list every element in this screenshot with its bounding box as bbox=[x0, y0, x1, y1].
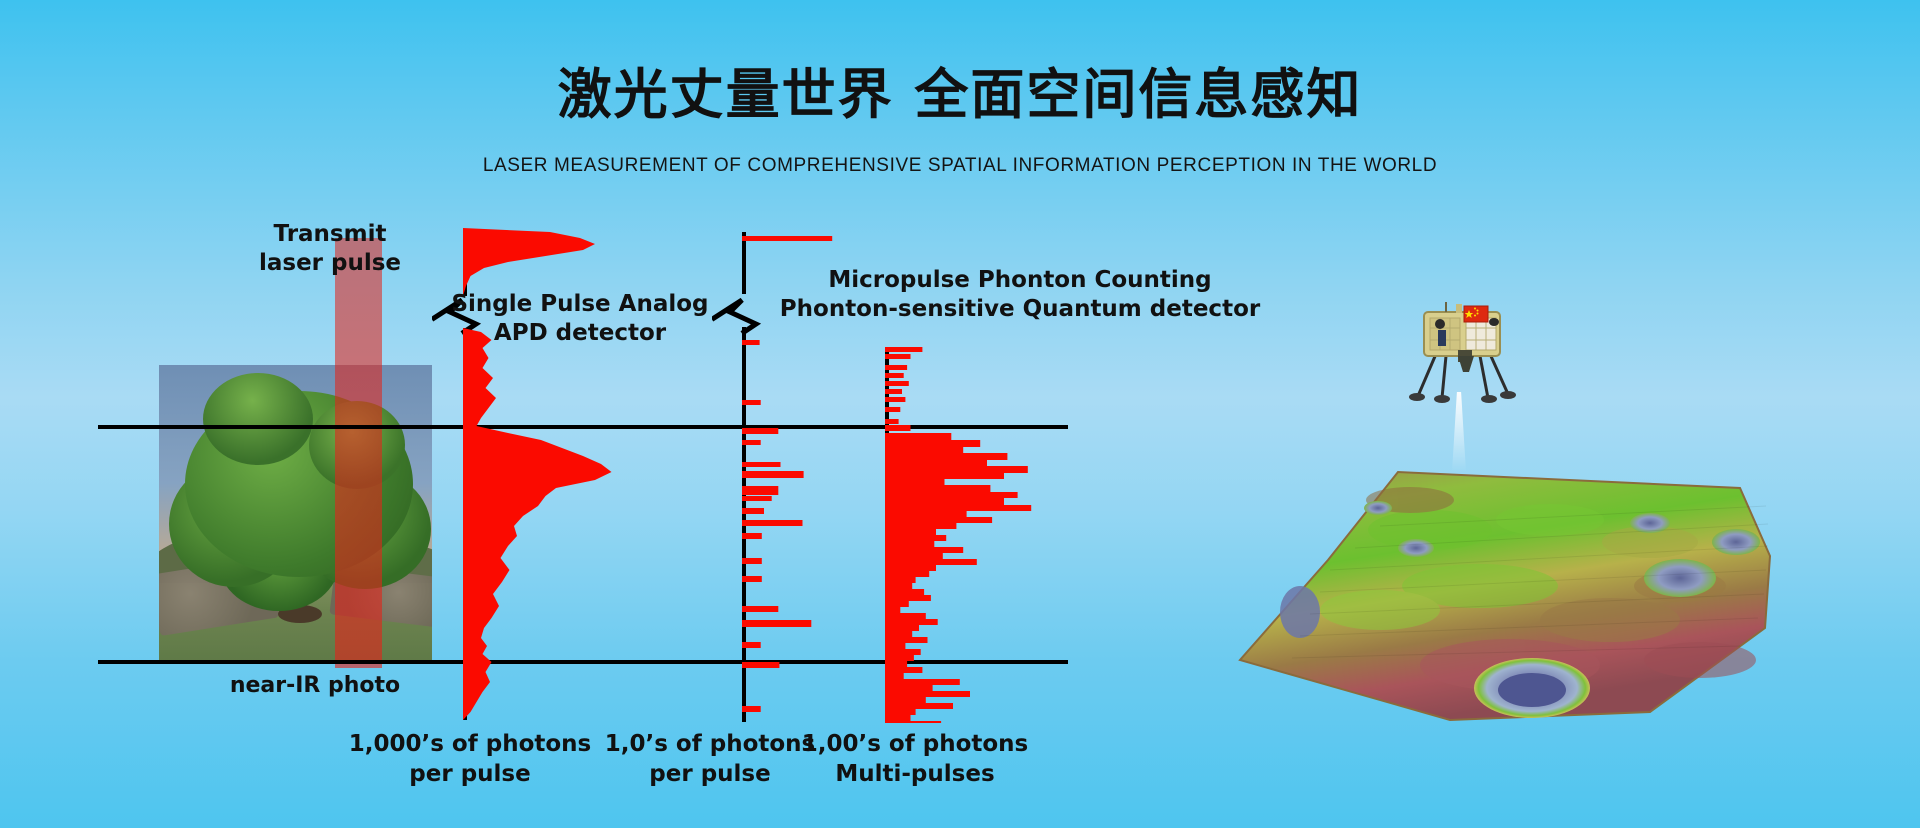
photon-bar bbox=[885, 492, 1018, 498]
photon-bar bbox=[885, 607, 900, 613]
photon-bar bbox=[885, 589, 924, 595]
page-subtitle: LASER MEASUREMENT OF COMPREHENSIVE SPATI… bbox=[0, 155, 1920, 177]
photo-canopy-upper-left bbox=[203, 373, 313, 465]
photon-bar bbox=[742, 496, 772, 501]
photon-bar bbox=[885, 691, 970, 697]
photon-bar bbox=[742, 662, 779, 668]
photon-bar bbox=[885, 709, 916, 715]
photon-bar bbox=[885, 425, 911, 431]
photon-bar bbox=[885, 625, 919, 631]
photon-bar bbox=[742, 486, 778, 495]
photon-bar bbox=[885, 440, 980, 447]
transmit-pulse-label: Transmit laser pulse bbox=[220, 220, 440, 279]
photon-bar bbox=[885, 365, 907, 370]
photon-bar bbox=[885, 547, 963, 553]
photon-bar bbox=[885, 511, 967, 517]
photon-bar bbox=[742, 642, 761, 648]
photon-bar bbox=[885, 595, 931, 601]
photon-bar bbox=[885, 721, 941, 723]
photon-bar bbox=[885, 715, 911, 721]
photon-bar bbox=[742, 576, 762, 582]
photon-bar bbox=[885, 697, 926, 703]
photon-bar bbox=[885, 685, 933, 691]
photon-bar bbox=[885, 479, 945, 485]
photon-bar bbox=[885, 667, 922, 673]
photon-bar bbox=[742, 400, 761, 405]
photon-bar bbox=[742, 620, 811, 627]
photon-bar bbox=[885, 619, 938, 625]
photon-bar bbox=[885, 565, 936, 571]
photon-bar bbox=[885, 649, 921, 655]
photon-bar bbox=[742, 706, 761, 712]
near-ir-photo-label: near-IR photo bbox=[185, 672, 445, 700]
photon-bar bbox=[885, 613, 926, 619]
photon-bar bbox=[742, 508, 764, 514]
photon-bar bbox=[885, 453, 1007, 460]
photon-bar bbox=[885, 498, 1004, 505]
photo-canopy-upper-right bbox=[309, 401, 405, 489]
photon-bar bbox=[742, 428, 778, 434]
analog-detector-label: Single Pulse Analog APD detector bbox=[400, 290, 760, 349]
photon-bar bbox=[742, 440, 761, 445]
photon-bar bbox=[885, 661, 907, 667]
photon-bar bbox=[885, 583, 912, 589]
photon-bar bbox=[885, 419, 899, 424]
photon-bar bbox=[885, 466, 1028, 473]
photon-bar bbox=[885, 601, 909, 607]
photon-bar bbox=[885, 517, 992, 523]
caption-column-1: 1,000’s of photons per pulse bbox=[330, 730, 610, 790]
poster-canvas: 激光丈量世界 全面空间信息感知 LASER MEASUREMENT OF COM… bbox=[0, 0, 1920, 828]
photon-bar bbox=[885, 655, 914, 661]
photon-bar bbox=[742, 533, 762, 539]
photon-bar bbox=[742, 606, 778, 612]
photon-bar bbox=[885, 559, 977, 565]
photon-bar bbox=[885, 553, 943, 559]
lunar-lander-icon bbox=[1402, 300, 1522, 408]
photon-bar bbox=[885, 679, 960, 685]
photon-bar bbox=[885, 373, 904, 378]
photon-bar bbox=[885, 354, 911, 359]
photon-bar bbox=[885, 571, 929, 577]
photon-bar bbox=[885, 473, 1004, 479]
photon-bar bbox=[885, 535, 946, 541]
photon-bar bbox=[885, 460, 987, 466]
photon-bar bbox=[885, 643, 905, 649]
photon-bar bbox=[885, 631, 912, 637]
photon-bar bbox=[885, 485, 990, 492]
photon-bar bbox=[742, 520, 803, 526]
photon-bar bbox=[885, 347, 922, 352]
photon-bar bbox=[885, 703, 953, 709]
photon-bar bbox=[885, 381, 909, 386]
photon-bar bbox=[885, 505, 1031, 511]
photon-bar bbox=[885, 407, 900, 412]
caption-column-3: 1,00’s of photons Multi-pulses bbox=[790, 730, 1040, 790]
photon-bar bbox=[885, 523, 956, 529]
photon-bar bbox=[885, 397, 905, 402]
photon-bar bbox=[742, 236, 832, 241]
photon-bar bbox=[885, 529, 936, 535]
lunar-scene bbox=[1180, 300, 1780, 730]
photon-bar bbox=[742, 471, 804, 478]
photon-bar bbox=[885, 541, 934, 547]
page-title: 激光丈量世界 全面空间信息感知 bbox=[0, 50, 1920, 129]
near-ir-photo bbox=[159, 365, 432, 661]
photon-bar bbox=[885, 433, 951, 440]
photon-bar bbox=[885, 389, 902, 394]
photon-bar bbox=[742, 558, 762, 564]
photon-bar bbox=[885, 577, 916, 583]
photon-bar bbox=[885, 637, 928, 643]
photon-multi-bars bbox=[885, 345, 1065, 723]
photon-bar bbox=[885, 673, 904, 679]
photon-bar bbox=[885, 447, 963, 453]
photon-bar bbox=[742, 462, 781, 467]
terrain-elevation-icon bbox=[1180, 360, 1780, 730]
